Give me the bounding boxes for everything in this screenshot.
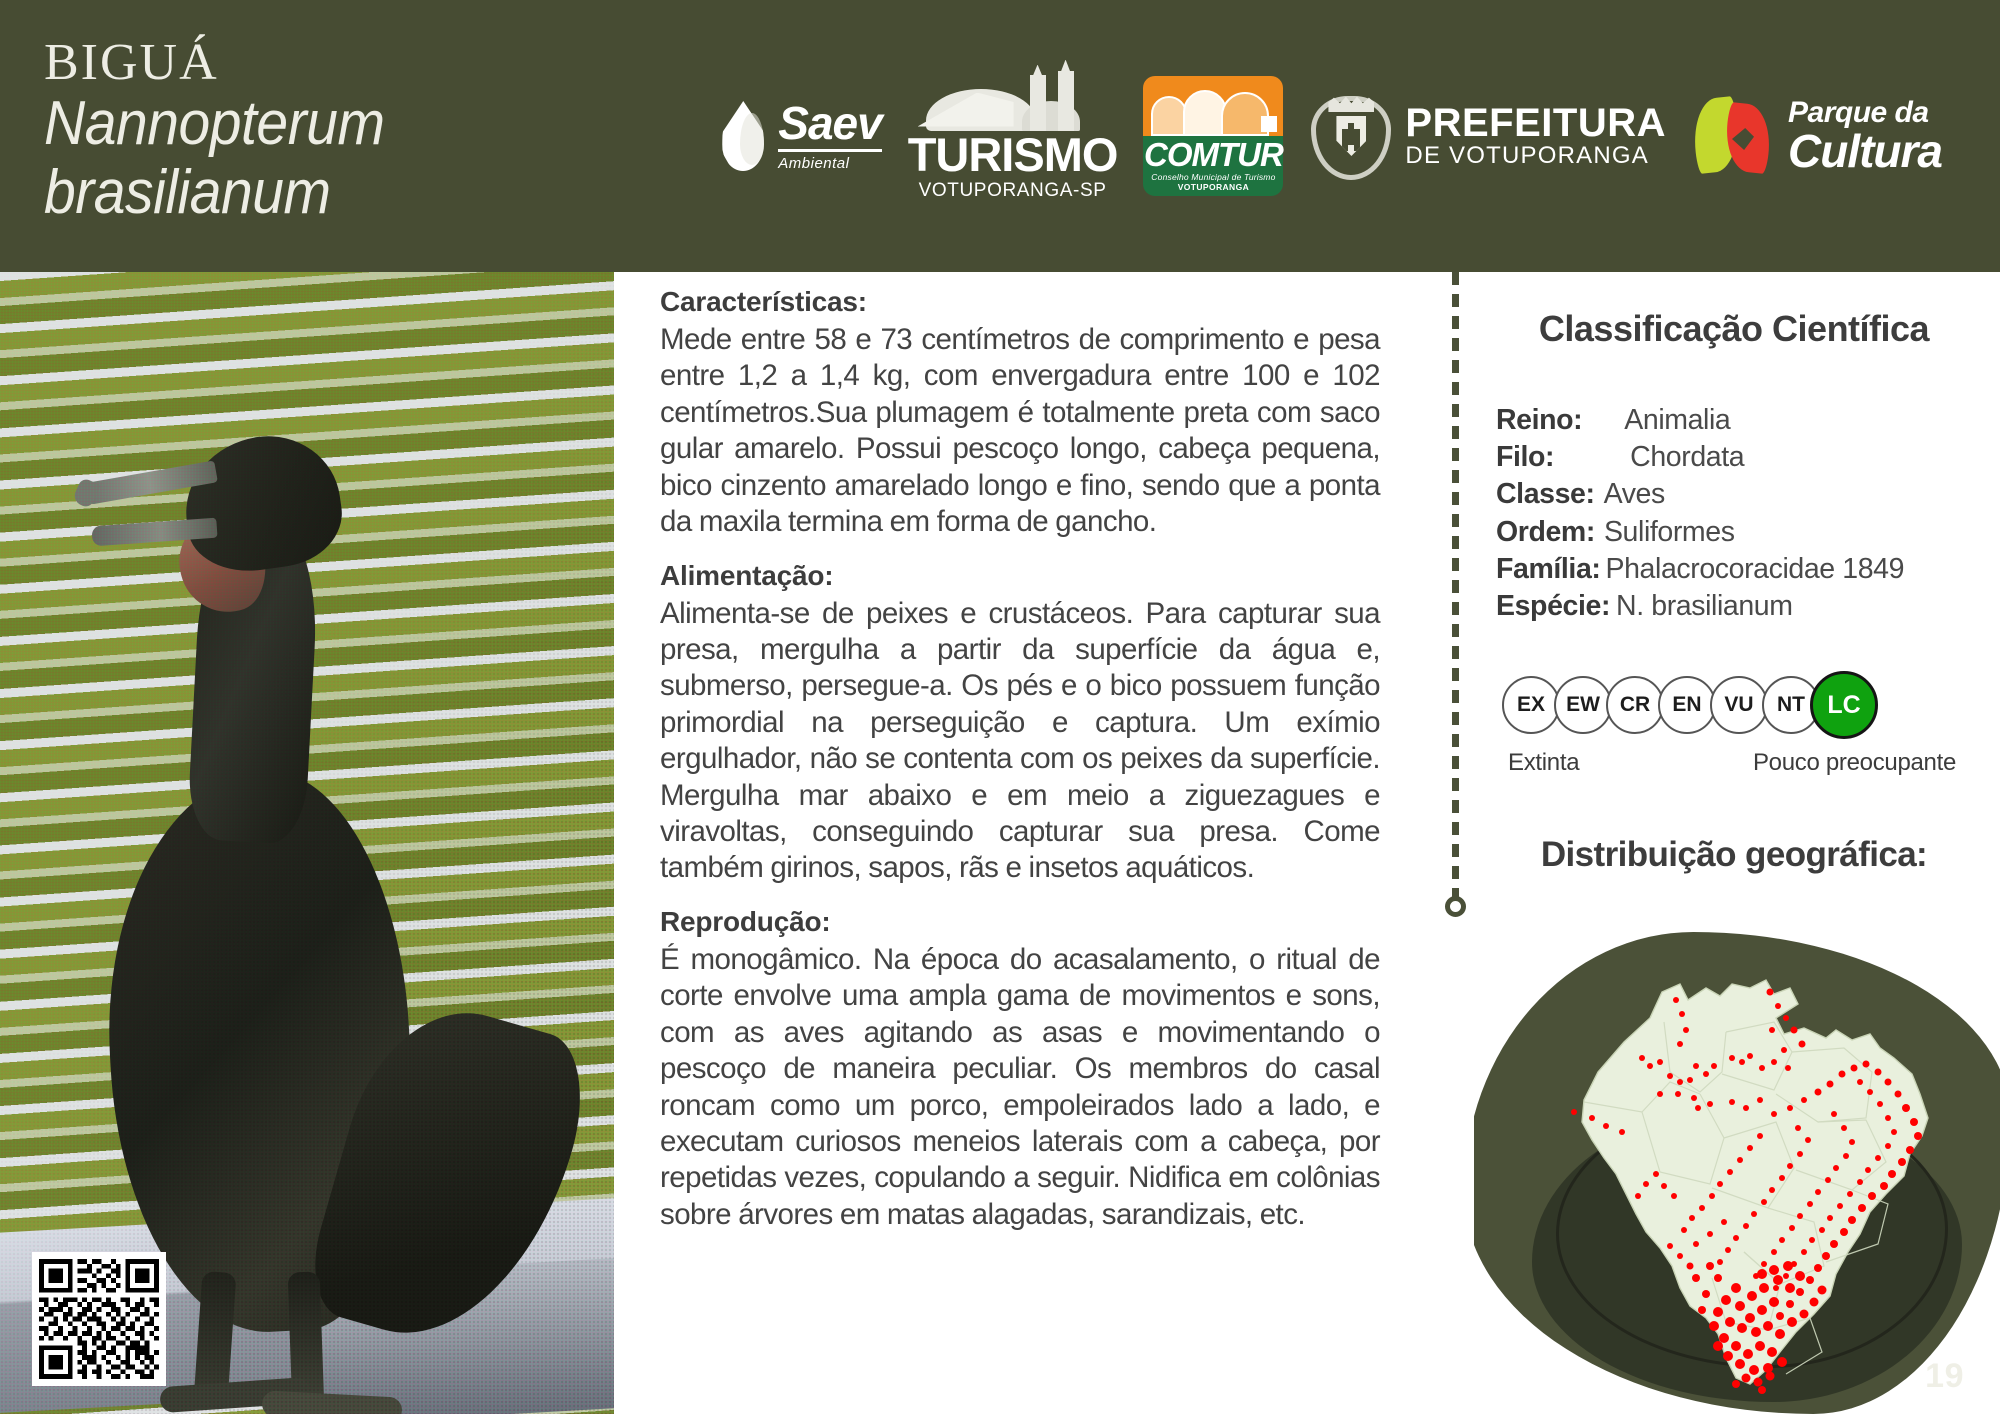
landmark-icon: [918, 71, 1108, 131]
status-badge-cr[interactable]: CR: [1606, 676, 1664, 734]
section-body: Mede entre 58 e 73 centímetros de compri…: [660, 322, 1380, 541]
distribution-map: 19: [1474, 922, 2000, 1414]
saev-logo-tagline: Ambiental: [778, 155, 849, 172]
taxonomy-value: Phalacrocoracidae 1849: [1606, 551, 1905, 588]
section-heading: Reprodução:: [660, 906, 1380, 938]
status-badge-en[interactable]: EN: [1658, 676, 1716, 734]
bird-illustration: [40, 312, 580, 1412]
status-badge-lc-active[interactable]: LC: [1810, 671, 1878, 739]
section-heading: Características:: [660, 286, 1380, 318]
species-info-page: BIGUÁ Nannopterum brasilianum Saev Ambie…: [0, 0, 2000, 1414]
taxonomy-row: Classe: Aves: [1496, 476, 2000, 513]
saev-logo: Saev Ambiental: [716, 97, 881, 175]
page-number: 19: [1925, 1357, 1964, 1396]
taxonomy-key: Filo:: [1496, 439, 1554, 476]
species-photo: [0, 272, 614, 1414]
brazil-map-icon: [1474, 922, 2000, 1414]
taxonomy-key: Família:: [1496, 551, 1601, 588]
taxonomy-table: Reino: Animalia Filo: Chordata Classe: A…: [1468, 402, 2000, 625]
section-reproducao: Reprodução: É monogâmico. Na época do ac…: [660, 906, 1380, 1233]
prefeitura-logo: PREFEITURA DE VOTUPORANGA: [1309, 90, 1666, 182]
section-alimentacao: Alimentação: Alimenta-se de peixes e cru…: [660, 560, 1380, 887]
turismo-logo-name: TURISMO: [908, 131, 1118, 178]
comtur-logo-tagline: Conselho Municipal de Turismo: [1151, 172, 1275, 182]
taxonomy-key: Reino:: [1496, 402, 1582, 439]
dashed-divider: [1452, 272, 1459, 900]
distribution-title: Distribuição geográfica:: [1468, 835, 2000, 875]
taxonomy-row: Filo: Chordata: [1496, 439, 2000, 476]
scale-label-right: Pouco preocupante: [1753, 749, 1956, 777]
status-badge-ex[interactable]: EX: [1502, 676, 1560, 734]
taxonomy-value: Suliformes: [1604, 514, 1735, 551]
sidebar-column: Classificação Científica Reino: Animalia…: [1468, 272, 2000, 1414]
page-title: BIGUÁ: [44, 37, 716, 89]
taxonomy-row: Espécie: N. brasilianum: [1496, 588, 2000, 625]
comtur-logo: COMTUR Conselho Municipal de Turismo VOT…: [1143, 76, 1283, 197]
scale-label-left: Extinta: [1508, 749, 1579, 777]
parque-da-cultura-logo: Parque da Cultura: [1692, 94, 1942, 178]
description-column: Características: Mede entre 58 e 73 cent…: [660, 286, 1380, 1406]
scientific-name: Nannopterum brasilianum: [44, 89, 662, 228]
taxonomy-key: Espécie:: [1496, 588, 1610, 625]
coat-of-arms-icon: [1309, 90, 1393, 182]
prefeitura-logo-name: PREFEITURA: [1405, 103, 1666, 144]
taxonomy-value: Chordata: [1630, 439, 1744, 476]
taxonomy-value: Aves: [1604, 476, 1665, 513]
page-header: BIGUÁ Nannopterum brasilianum Saev Ambie…: [0, 0, 2000, 272]
leaf-icon: [1692, 94, 1778, 178]
prefeitura-logo-city: DE VOTUPORANGA: [1405, 144, 1666, 168]
qr-code[interactable]: [32, 1252, 166, 1386]
taxonomy-value: Animalia: [1624, 402, 1730, 439]
water-drop-icon: [716, 97, 772, 175]
parque-logo-line2: Cultura: [1788, 128, 1942, 174]
comtur-logo-city: VOTUPORANGA: [1178, 182, 1249, 192]
turismo-logo-city: VOTUPORANGA-SP: [919, 180, 1107, 202]
conservation-scale-labels: Extinta Pouco preocupante: [1468, 739, 2000, 777]
parque-logo-line1: Parque da: [1788, 98, 1942, 128]
qr-code-icon: [39, 1259, 159, 1379]
section-body: Alimenta-se de peixes e crustáceos. Para…: [660, 596, 1380, 887]
taxonomy-row: Família: Phalacrocoracidae 1849: [1496, 551, 2000, 588]
taxonomy-row: Reino: Animalia: [1496, 402, 2000, 439]
taxonomy-key: Ordem:: [1496, 514, 1595, 551]
taxonomy-value: N. brasilianum: [1616, 588, 1793, 625]
logo-row: Saev Ambiental TURISMO VOTUPORANGA-SP CO…: [716, 71, 1952, 202]
divider-end-dot-icon: [1445, 896, 1466, 917]
taxonomy-row: Ordem: Suliformes: [1496, 514, 2000, 551]
status-badge-vu[interactable]: VU: [1710, 676, 1768, 734]
turismo-logo: TURISMO VOTUPORANGA-SP: [908, 71, 1118, 202]
status-badge-ew[interactable]: EW: [1554, 676, 1612, 734]
conservation-status-scale: EX EW CR EN VU NT LC: [1468, 671, 2000, 739]
section-caracteristicas: Características: Mede entre 58 e 73 cent…: [660, 286, 1380, 541]
title-block: BIGUÁ Nannopterum brasilianum: [44, 37, 716, 236]
comtur-logo-name: COMTUR: [1144, 138, 1283, 173]
taxonomy-key: Classe:: [1496, 476, 1595, 513]
section-body: É monogâmico. Na época do acasalamento, …: [660, 942, 1380, 1233]
section-heading: Alimentação:: [660, 560, 1380, 592]
classification-title: Classificação Científica: [1468, 308, 2000, 350]
pavilion-icon: [1143, 76, 1283, 136]
saev-logo-name: Saev: [778, 100, 881, 152]
